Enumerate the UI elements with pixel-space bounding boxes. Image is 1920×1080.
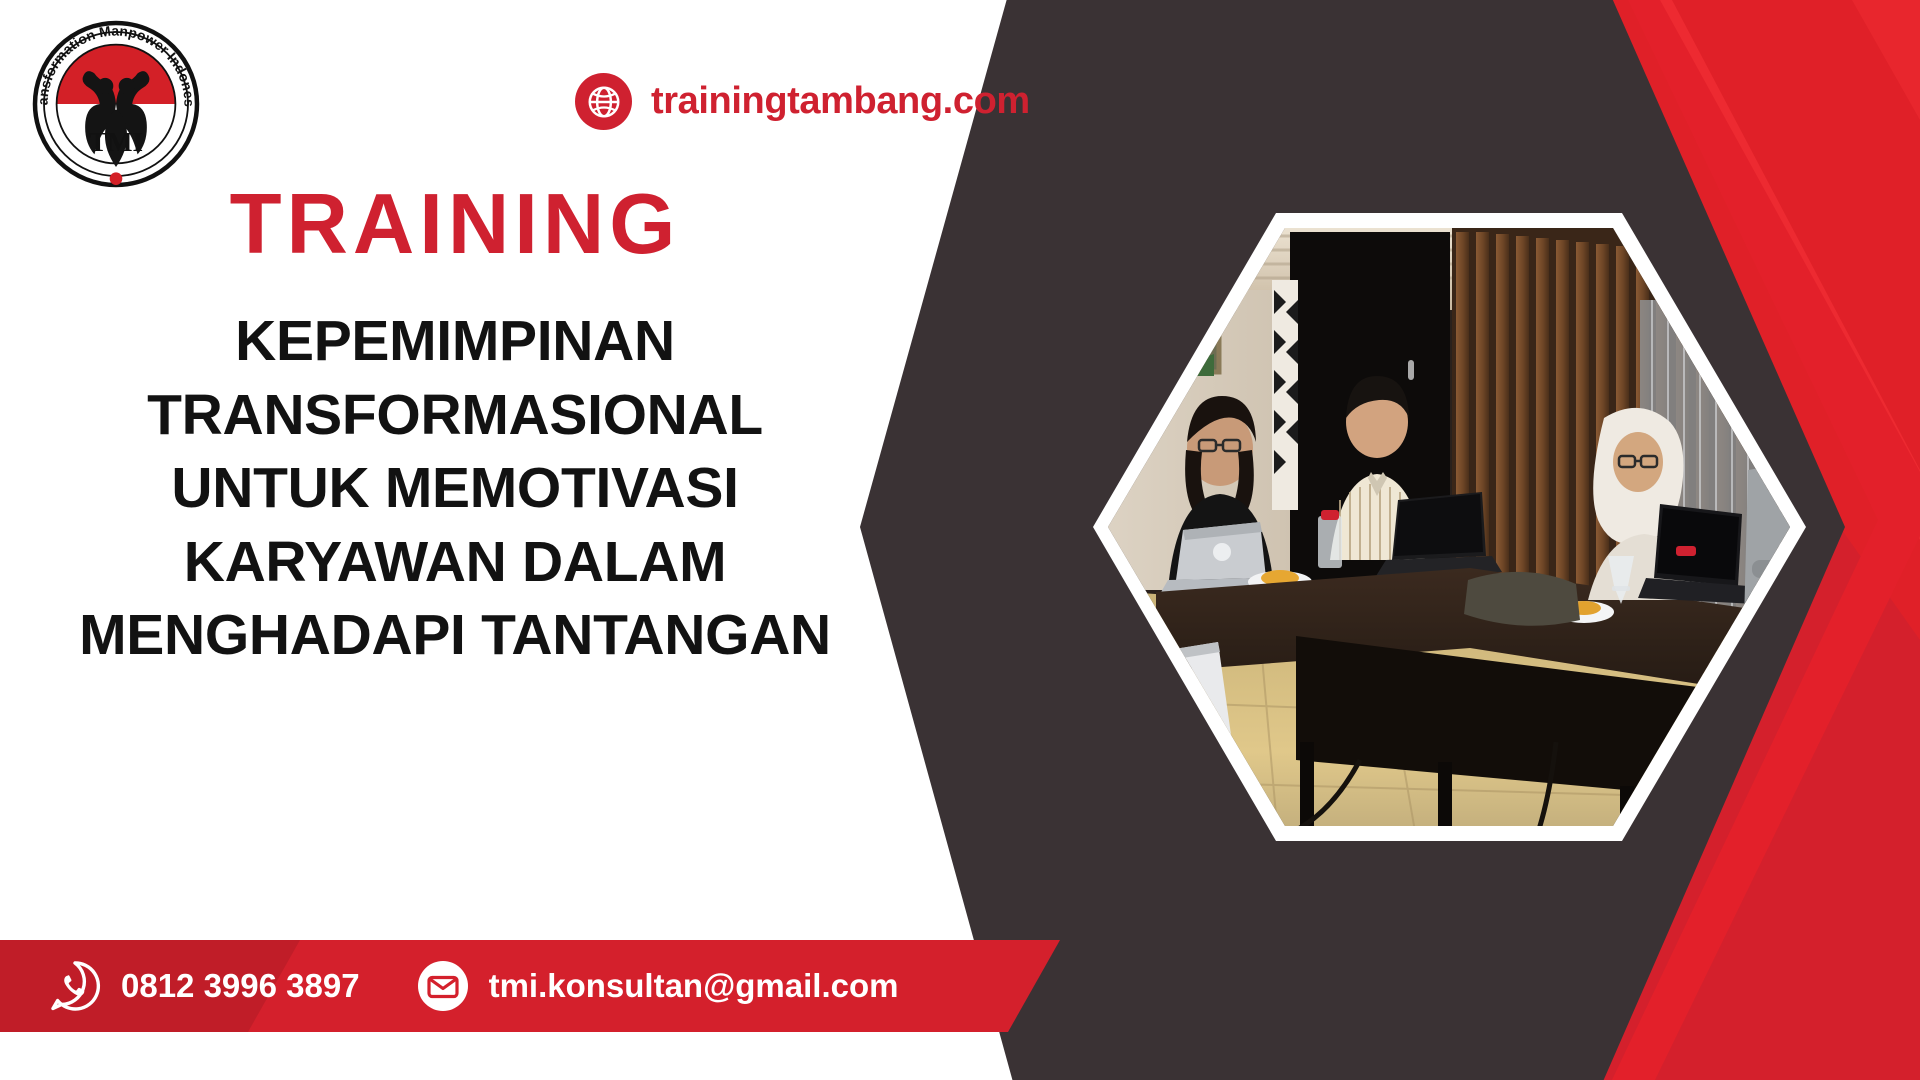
envelope-icon	[416, 959, 470, 1013]
whatsapp-number[interactable]: 0812 3996 3897	[121, 967, 360, 1005]
headline-line-3: UNTUK MEMOTIVASI	[40, 452, 870, 526]
tmi-logo: TMI Transformation Manpower Indonesia	[26, 14, 206, 194]
email-contact[interactable]: tmi.konsultan@gmail.com	[416, 959, 899, 1013]
promo-poster: TMI Transformation Manpower Indonesia tr…	[0, 0, 1920, 1080]
tmi-circular-badge-icon: TMI Transformation Manpower Indonesia	[26, 14, 206, 194]
logo-center-text: TMI	[89, 127, 143, 157]
email-address[interactable]: tmi.konsultan@gmail.com	[489, 967, 899, 1005]
headline-line-4: KARYAWAN DALAM	[40, 526, 870, 600]
globe-icon	[575, 73, 632, 130]
whatsapp-contact[interactable]: 0812 3996 3897	[48, 959, 360, 1013]
headline-line-2: TRANSFORMASIONAL	[40, 379, 870, 453]
website-row[interactable]: trainingtambang.com	[575, 73, 1030, 130]
contact-bar: 0812 3996 3897 tmi.konsultan@gmail.com	[0, 940, 1060, 1032]
whatsapp-icon	[48, 959, 102, 1013]
website-url[interactable]: trainingtambang.com	[651, 80, 1030, 123]
hero-text-block: TRAINING KEPEMIMPINAN TRANSFORMASIONAL U…	[40, 180, 870, 673]
page-title: KEPEMIMPINAN TRANSFORMASIONAL UNTUK MEMO…	[40, 305, 870, 673]
headline-line-5: MENGHADAPI TANTANGAN	[40, 599, 870, 673]
headline-line-1: KEPEMIMPINAN	[40, 305, 870, 379]
page-eyebrow: TRAINING	[40, 180, 870, 269]
